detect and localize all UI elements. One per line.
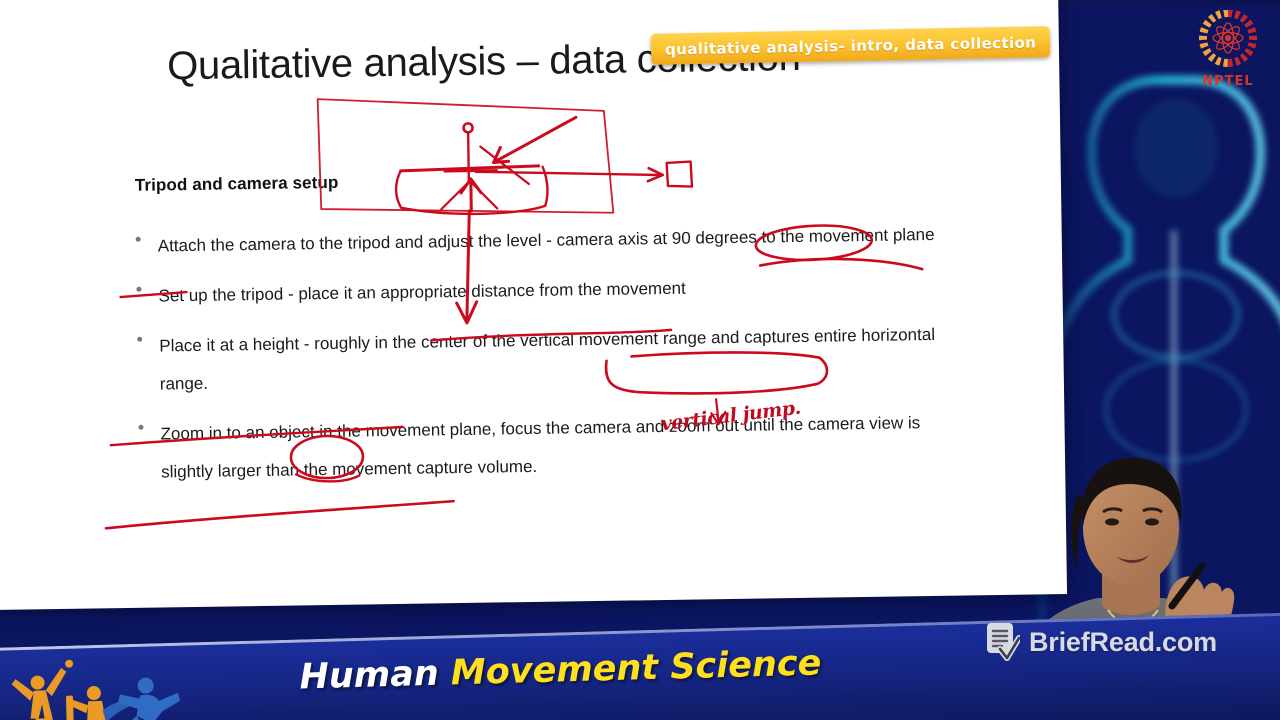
nptel-logo: NPTEL — [1186, 10, 1270, 88]
sketch-camera-head — [464, 123, 473, 132]
sketch-outer-box — [318, 95, 614, 217]
bullet-dot-icon — [136, 237, 141, 242]
bullet-text: Place it at a height - roughly in the ce… — [159, 316, 938, 404]
sketch-object-square — [667, 162, 692, 187]
bullet-text: Set up the tripod - place it an appropri… — [158, 266, 936, 316]
bullet-list: Attach the camera to the tripod and adju… — [136, 216, 940, 506]
list-item: Place it at a height - roughly in the ce… — [137, 316, 938, 404]
section-subheading: Tripod and camera setup — [135, 173, 339, 196]
sketch-tripod-base — [396, 167, 548, 215]
course-title: Human Movement Science — [299, 643, 822, 697]
nptel-label: NPTEL — [1186, 74, 1270, 89]
watermark-text: BriefRead.com — [1029, 627, 1217, 658]
bullet-text: Attach the camera to the tripod and adju… — [158, 216, 936, 266]
course-title-part2: Movement Science — [450, 643, 822, 693]
sketch-arrow-right — [476, 169, 661, 178]
list-item: Attach the camera to the tripod and adju… — [136, 216, 936, 266]
topic-banner-label: qualitative analysis- intro, data collec… — [665, 33, 1037, 58]
presentation-slide: Qualitative analysis – data collection T… — [0, 0, 1067, 610]
bullet-dot-icon — [138, 425, 143, 430]
sketch-arrow-diagonal — [493, 117, 577, 162]
studio-background: Qualitative analysis – data collection T… — [0, 0, 1280, 720]
list-item: Set up the tripod - place it an appropri… — [136, 266, 936, 316]
list-item: Zoom in to an object in the movement pla… — [138, 404, 939, 492]
document-check-icon — [986, 622, 1020, 662]
course-title-part1: Human — [299, 653, 451, 697]
bullet-dot-icon — [137, 337, 142, 342]
briefread-watermark: BriefRead.com — [986, 622, 1217, 662]
bullet-dot-icon — [136, 287, 141, 292]
sports-figures-logo — [0, 649, 186, 720]
bullet-text: Zoom in to an object in the movement pla… — [160, 404, 939, 492]
nptel-atom-icon — [1186, 10, 1270, 68]
